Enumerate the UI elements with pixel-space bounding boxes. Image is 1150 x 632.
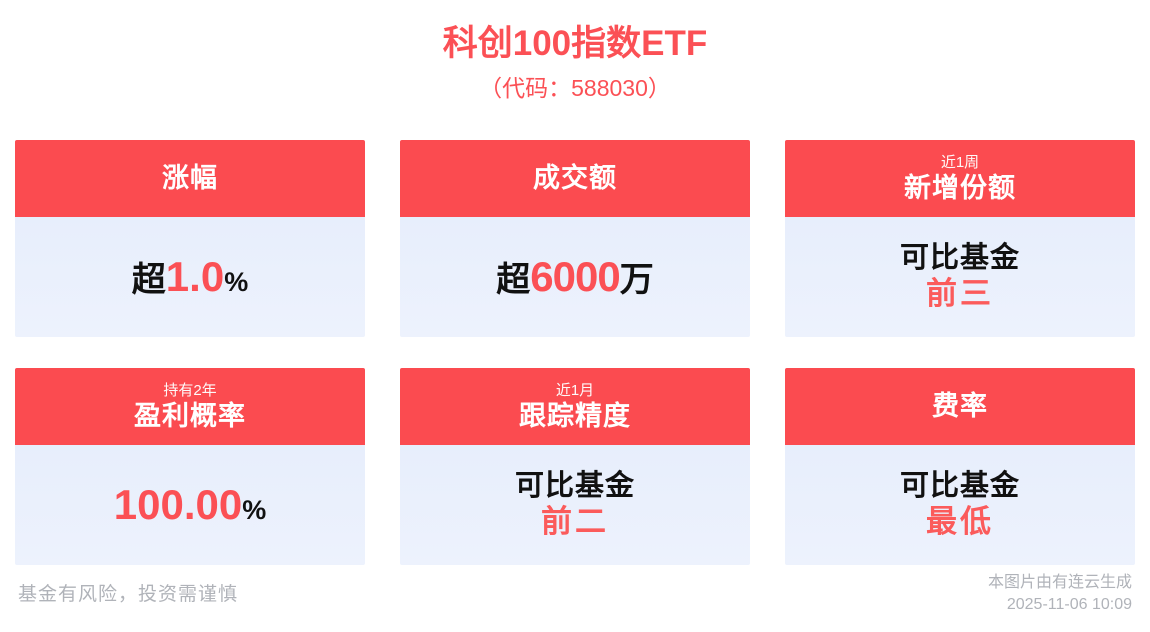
page-header: 科创100指数ETF （代码：588030） [0,0,1150,104]
metric-card-fee-rate: 费率 可比基金 最低 [785,368,1135,565]
card-header-new-shares: 近1周 新增份额 [785,140,1135,217]
metric-card-tracking-accuracy: 近1月 跟踪精度 可比基金 前二 [400,368,750,565]
card-subtitle-tracking-accuracy: 近1月 [556,381,594,400]
metric-value-turnover: 超 6000 万 [496,254,653,300]
card-body-new-shares: 可比基金 前三 [785,217,1135,337]
page-footer: 基金有风险，投资需谨慎 本图片由有连云生成 2025-11-06 10:09 [0,560,1150,632]
value-number: 1.0 [166,254,224,300]
card-body-fee-rate: 可比基金 最低 [785,445,1135,565]
metric-value-new-shares: 可比基金 前三 [900,241,1020,313]
image-source-text: 本图片由有连云生成 [988,572,1132,594]
card-title-turnover: 成交额 [533,162,617,195]
card-header-turnover: 成交额 [400,140,750,217]
value-top-line: 可比基金 [515,469,635,503]
card-title-new-shares: 新增份额 [904,172,1016,205]
value-prefix: 超 [132,262,166,299]
metric-card-turnover: 成交额 超 6000 万 [400,140,750,337]
value-top-line: 可比基金 [900,241,1020,275]
card-body-turnover: 超 6000 万 [400,217,750,337]
metric-card-new-shares: 近1周 新增份额 可比基金 前三 [785,140,1135,337]
metric-value-profit-probability: 100.00 % [114,482,266,528]
metric-card-change: 涨幅 超 1.0 % [15,140,365,337]
value-bottom-line: 前二 [515,504,635,541]
image-source-block: 本图片由有连云生成 2025-11-06 10:09 [988,572,1132,620]
card-title-fee-rate: 费率 [932,390,988,423]
card-body-change: 超 1.0 % [15,217,365,337]
value-number: 6000 [530,254,619,300]
card-title-change: 涨幅 [162,162,218,195]
value-top-line: 可比基金 [900,469,1020,503]
card-body-tracking-accuracy: 可比基金 前二 [400,445,750,565]
card-subtitle-profit-probability: 持有2年 [163,381,216,400]
card-header-tracking-accuracy: 近1月 跟踪精度 [400,368,750,445]
card-title-tracking-accuracy: 跟踪精度 [519,400,631,433]
metric-value-fee-rate: 可比基金 最低 [900,469,1020,541]
fund-code-subtitle: （代码：588030） [0,72,1150,104]
value-bottom-line: 前三 [900,276,1020,313]
card-header-profit-probability: 持有2年 盈利概率 [15,368,365,445]
metric-card-profit-probability: 持有2年 盈利概率 100.00 % [15,368,365,565]
value-bottom-line: 最低 [900,504,1020,541]
card-title-profit-probability: 盈利概率 [134,400,246,433]
card-body-profit-probability: 100.00 % [15,445,365,565]
value-number: 100.00 [114,482,242,528]
image-timestamp: 2025-11-06 10:09 [988,594,1132,616]
card-header-fee-rate: 费率 [785,368,1135,445]
card-header-change: 涨幅 [15,140,365,217]
value-suffix: % [224,268,248,298]
value-prefix: 超 [496,262,530,299]
page-title: 科创100指数ETF [0,22,1150,66]
metric-card-grid: 涨幅 超 1.0 % 成交额 超 6000 万 近1周 新增份额 [15,140,1135,565]
value-suffix: % [242,496,266,526]
value-suffix: 万 [620,262,654,299]
risk-disclaimer: 基金有风险，投资需谨慎 [18,579,238,614]
card-subtitle-new-shares: 近1周 [941,153,979,172]
metric-value-tracking-accuracy: 可比基金 前二 [515,469,635,541]
metric-value-change: 超 1.0 % [132,254,248,300]
